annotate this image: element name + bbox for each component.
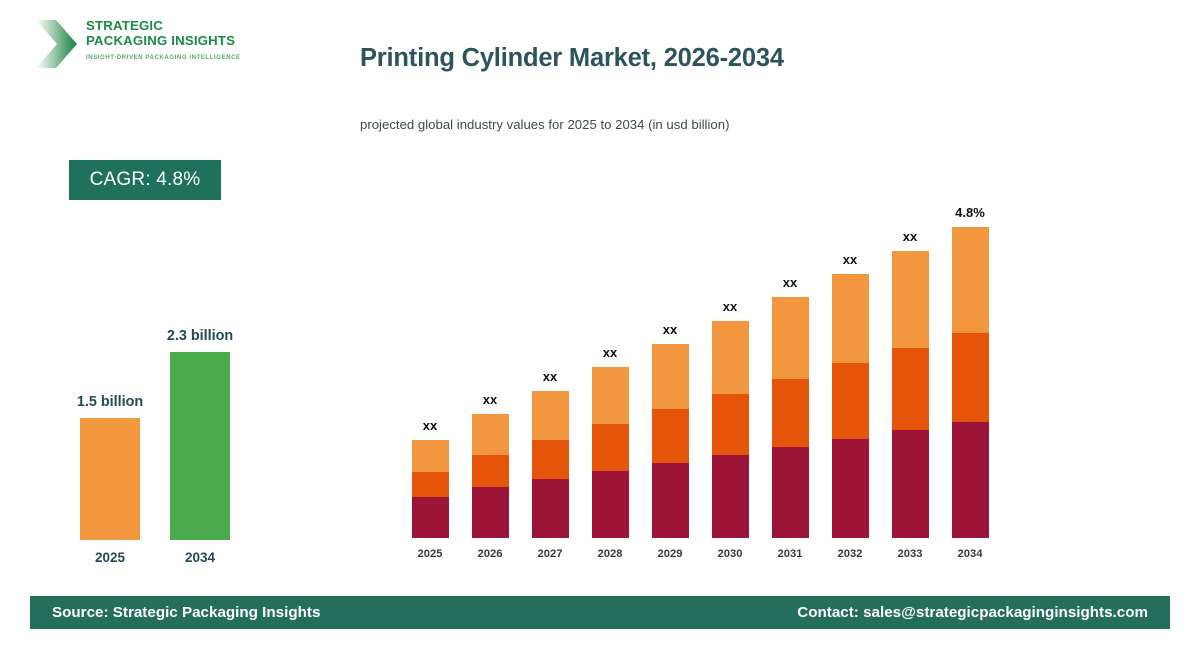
stack-segment-segment-middle-2030 bbox=[712, 394, 749, 455]
stack-segment-segment-top-2030 bbox=[712, 321, 749, 394]
stacked-column-2028: xx2028 bbox=[580, 200, 640, 570]
cagr-badge-label: CAGR: 4.8% bbox=[90, 169, 201, 191]
mini-bar-2034 bbox=[170, 352, 230, 540]
stack-segment-segment-top-2034 bbox=[952, 227, 989, 333]
stack-segment-segment-top-2026 bbox=[472, 414, 509, 455]
stack-segment-segment-top-2025 bbox=[412, 440, 449, 472]
stacked-column-2033: xx2033 bbox=[880, 200, 940, 570]
stack-segment-segment-top-2031 bbox=[772, 297, 809, 378]
stacked-bar-value-label-2030: xx bbox=[700, 299, 760, 314]
stacked-bar-category-label-2030: 2030 bbox=[700, 548, 760, 560]
stacked-bar-2032 bbox=[832, 274, 869, 538]
stacked-bar-2031 bbox=[772, 297, 809, 538]
stacked-bar-value-label-2025: xx bbox=[400, 418, 460, 433]
chevron-right-logo-mark-icon bbox=[34, 18, 80, 70]
stacked-bar-value-label-2027: xx bbox=[520, 369, 580, 384]
stacked-bar-value-label-2029: xx bbox=[640, 322, 700, 337]
stacked-bar-2025 bbox=[412, 440, 449, 538]
brand-tagline: INSIGHT-DRIVEN PACKAGING INTELLIGENCE bbox=[86, 54, 266, 61]
stacked-column-2029: xx2029 bbox=[640, 200, 700, 570]
stacked-bar-category-label-2031: 2031 bbox=[760, 548, 820, 560]
stack-segment-segment-middle-2026 bbox=[472, 455, 509, 487]
brand-logo-text: STRATEGIC PACKAGING INSIGHTS INSIGHT-DRI… bbox=[86, 19, 266, 61]
footer-source-text: Source: Strategic Packaging Insights bbox=[52, 604, 320, 621]
stack-segment-segment-middle-2029 bbox=[652, 409, 689, 463]
stack-segment-segment-bottom-2030 bbox=[712, 455, 749, 538]
stacked-bar-value-label-2028: xx bbox=[580, 345, 640, 360]
stack-segment-segment-middle-2032 bbox=[832, 363, 869, 438]
stack-segment-segment-middle-2028 bbox=[592, 424, 629, 471]
footer-contact-text: Contact: sales@strategicpackaginginsight… bbox=[797, 604, 1148, 621]
stacked-bar-2034 bbox=[952, 227, 989, 538]
stacked-bar-2026 bbox=[472, 414, 509, 538]
brand-name-line-2: PACKAGING INSIGHTS bbox=[86, 34, 266, 49]
brand-logo: STRATEGIC PACKAGING INSIGHTS INSIGHT-DRI… bbox=[34, 16, 264, 78]
endpoint-comparison-chart: 1.5 billion20252.3 billion2034 bbox=[50, 300, 300, 570]
stacked-column-2027: xx2027 bbox=[520, 200, 580, 570]
page-subtitle: projected global industry values for 202… bbox=[360, 117, 729, 132]
mini-bar-value-label-2025: 1.5 billion bbox=[60, 394, 160, 410]
stacked-bar-2027 bbox=[532, 391, 569, 538]
stacked-bar-2029 bbox=[652, 344, 689, 538]
cagr-badge: CAGR: 4.8% bbox=[69, 160, 221, 200]
stacked-column-2026: xx2026 bbox=[460, 200, 520, 570]
page-title: Printing Cylinder Market, 2026-2034 bbox=[360, 44, 784, 73]
stacked-bar-2028 bbox=[592, 367, 629, 538]
stack-segment-segment-top-2028 bbox=[592, 367, 629, 424]
brand-name-line-1: STRATEGIC bbox=[86, 19, 266, 34]
stack-segment-segment-top-2027 bbox=[532, 391, 569, 440]
stack-segment-segment-bottom-2032 bbox=[832, 439, 869, 538]
stacked-column-2032: xx2032 bbox=[820, 200, 880, 570]
stack-segment-segment-bottom-2028 bbox=[592, 471, 629, 538]
infographic-page: STRATEGIC PACKAGING INSIGHTS INSIGHT-DRI… bbox=[0, 0, 1200, 650]
stacked-bar-2033 bbox=[892, 251, 929, 538]
stack-segment-segment-middle-2034 bbox=[952, 333, 989, 422]
stacked-column-2025: xx2025 bbox=[400, 200, 460, 570]
stacked-column-2034: 4.8%2034 bbox=[940, 200, 1000, 570]
stack-segment-segment-bottom-2029 bbox=[652, 463, 689, 538]
mini-bar-category-label-2034: 2034 bbox=[150, 550, 250, 565]
stack-segment-segment-bottom-2026 bbox=[472, 487, 509, 538]
forecast-stacked-chart: xx2025xx2026xx2027xx2028xx2029xx2030xx20… bbox=[400, 200, 1020, 570]
stack-segment-segment-bottom-2025 bbox=[412, 497, 449, 538]
footer-bar: Source: Strategic Packaging Insights Con… bbox=[30, 596, 1170, 629]
stack-segment-segment-middle-2027 bbox=[532, 440, 569, 480]
stacked-bar-value-label-2033: xx bbox=[880, 229, 940, 244]
stack-segment-segment-top-2033 bbox=[892, 251, 929, 348]
stack-segment-segment-bottom-2027 bbox=[532, 479, 569, 538]
stacked-column-2030: xx2030 bbox=[700, 200, 760, 570]
stacked-bar-category-label-2033: 2033 bbox=[880, 548, 940, 560]
stacked-bar-value-label-2031: xx bbox=[760, 275, 820, 290]
stack-segment-segment-middle-2031 bbox=[772, 379, 809, 447]
stacked-bar-category-label-2032: 2032 bbox=[820, 548, 880, 560]
stack-segment-segment-bottom-2034 bbox=[952, 422, 989, 538]
stacked-bar-category-label-2025: 2025 bbox=[400, 548, 460, 560]
stack-segment-segment-middle-2025 bbox=[412, 472, 449, 497]
stacked-bar-category-label-2028: 2028 bbox=[580, 548, 640, 560]
stack-segment-segment-top-2029 bbox=[652, 344, 689, 409]
stack-segment-segment-middle-2033 bbox=[892, 348, 929, 430]
stack-segment-segment-bottom-2031 bbox=[772, 447, 809, 538]
stacked-bar-2030 bbox=[712, 321, 749, 538]
stacked-bar-category-label-2026: 2026 bbox=[460, 548, 520, 560]
stacked-bar-category-label-2029: 2029 bbox=[640, 548, 700, 560]
stacked-bar-category-label-2034: 2034 bbox=[940, 548, 1000, 560]
mini-bar-value-label-2034: 2.3 billion bbox=[150, 328, 250, 344]
stacked-bar-category-label-2027: 2027 bbox=[520, 548, 580, 560]
stacked-bar-value-label-2034: 4.8% bbox=[940, 205, 1000, 220]
stack-segment-segment-top-2032 bbox=[832, 274, 869, 363]
stacked-bar-value-label-2032: xx bbox=[820, 252, 880, 267]
stacked-column-2031: xx2031 bbox=[760, 200, 820, 570]
mini-bar-category-label-2025: 2025 bbox=[60, 550, 160, 565]
stack-segment-segment-bottom-2033 bbox=[892, 430, 929, 538]
stacked-bar-value-label-2026: xx bbox=[460, 392, 520, 407]
mini-bar-2025 bbox=[80, 418, 140, 540]
